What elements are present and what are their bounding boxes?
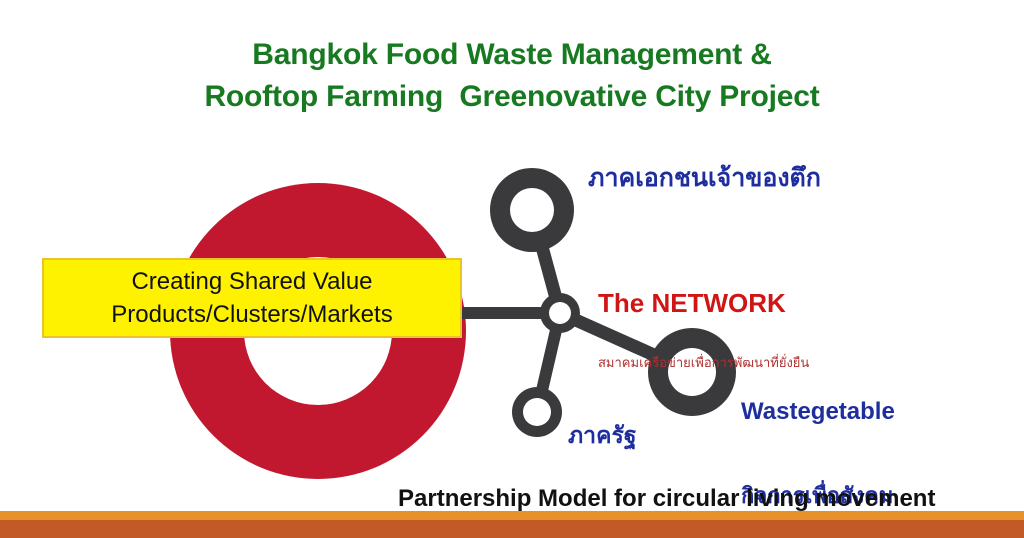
footer-bar-light xyxy=(0,511,1024,520)
center-hub-node-hole xyxy=(549,302,571,324)
label-network-english: The NETWORK xyxy=(598,288,809,318)
footer-bar-dark xyxy=(0,520,1024,538)
government-node-hole xyxy=(523,398,551,426)
shared-value-callout: Creating Shared Value Products/Clusters/… xyxy=(42,258,462,338)
label-wastegetable-english: Wastegetable xyxy=(741,398,895,426)
slide-canvas: Bangkok Food Waste Management & Rooftop … xyxy=(0,0,1024,538)
callout-line-1: Creating Shared Value xyxy=(131,265,372,298)
private-sector-node-hole xyxy=(510,188,554,232)
slide-caption: Partnership Model for circular living mo… xyxy=(398,485,935,513)
label-government: ภาครัฐ xyxy=(568,418,637,454)
callout-line-2: Products/Clusters/Markets xyxy=(111,298,392,331)
label-private-sector: ภาคเอกชนเจ้าของตึก xyxy=(588,158,821,198)
